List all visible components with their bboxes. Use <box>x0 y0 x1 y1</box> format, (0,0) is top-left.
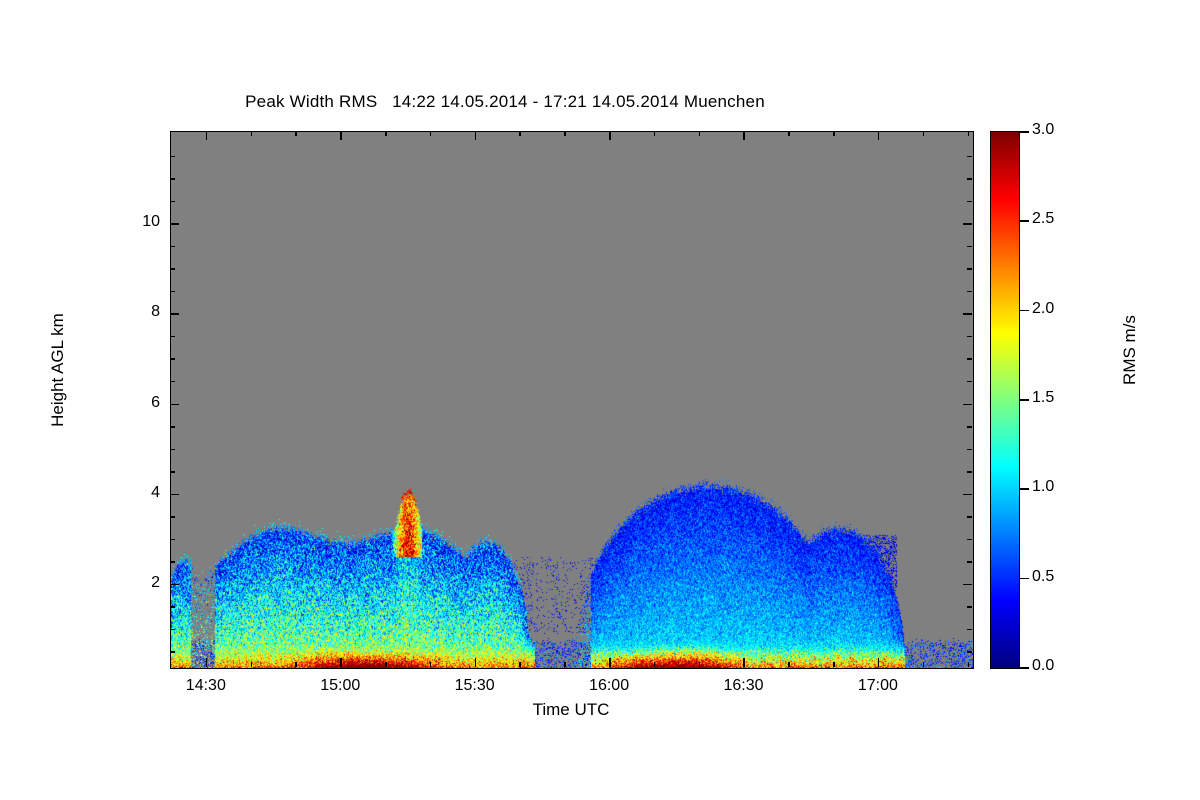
x-tick-minor <box>968 662 970 667</box>
x-tick-minor-top <box>833 131 835 136</box>
y-axis-label: Height AGL km <box>48 260 68 480</box>
y-tick-minor-right <box>967 246 972 248</box>
x-axis-label: Time UTC <box>170 700 972 720</box>
x-tick-minor <box>385 662 387 667</box>
y-tick-minor <box>170 246 175 248</box>
y-tick-major <box>170 223 179 225</box>
y-tick-major-right <box>963 494 972 496</box>
colorbar[interactable] <box>990 131 1020 669</box>
y-tick-label: 2 <box>100 574 160 592</box>
colorbar-tick-major <box>1020 667 1029 669</box>
y-tick-minor-right <box>967 606 972 608</box>
x-tick-major <box>206 658 208 667</box>
y-tick-minor <box>170 291 175 293</box>
colorbar-tick-major <box>1020 488 1029 490</box>
y-tick-minor <box>170 178 175 180</box>
y-tick-label: 4 <box>100 484 160 502</box>
x-tick-minor-top <box>654 131 656 136</box>
y-tick-minor <box>170 629 175 631</box>
y-tick-label: 6 <box>100 394 160 412</box>
x-tick-major-top <box>206 131 208 140</box>
x-tick-minor <box>564 662 566 667</box>
y-tick-major <box>170 584 179 586</box>
x-tick-major <box>743 658 745 667</box>
y-tick-minor <box>170 381 175 383</box>
colorbar-tick-label: 0.5 <box>1032 568 1054 586</box>
y-tick-minor-right <box>967 178 972 180</box>
y-tick-major <box>170 313 179 315</box>
y-tick-major <box>170 494 179 496</box>
x-tick-major <box>878 658 880 667</box>
y-tick-minor-right <box>967 381 972 383</box>
x-tick-minor <box>251 662 253 667</box>
x-tick-minor <box>923 662 925 667</box>
y-tick-label: 10 <box>100 213 160 231</box>
y-tick-minor-right <box>967 156 972 158</box>
x-tick-minor <box>699 662 701 667</box>
x-tick-minor-top <box>968 131 970 136</box>
colorbar-tick-label: 1.5 <box>1032 389 1054 407</box>
x-tick-major-top <box>609 131 611 140</box>
colorbar-tick-label: 2.0 <box>1032 300 1054 318</box>
y-tick-minor-right <box>967 358 972 360</box>
page-title: Peak Width RMS 14:22 14.05.2014 - 17:21 … <box>0 92 1010 112</box>
x-tick-minor <box>295 662 297 667</box>
x-tick-minor <box>788 662 790 667</box>
y-tick-minor <box>170 539 175 541</box>
x-tick-label: 16:30 <box>698 677 788 695</box>
y-tick-minor <box>170 201 175 203</box>
x-tick-major <box>609 658 611 667</box>
y-tick-major <box>170 404 179 406</box>
y-tick-major-right <box>963 223 972 225</box>
y-tick-minor <box>170 471 175 473</box>
x-tick-minor-top <box>788 131 790 136</box>
x-tick-major-top <box>340 131 342 140</box>
y-tick-major-right <box>963 584 972 586</box>
x-tick-minor-top <box>923 131 925 136</box>
y-tick-minor-right <box>967 426 972 428</box>
y-tick-minor <box>170 268 175 270</box>
y-tick-minor-right <box>967 471 972 473</box>
y-tick-minor <box>170 449 175 451</box>
x-tick-minor-top <box>251 131 253 136</box>
y-tick-minor <box>170 358 175 360</box>
x-tick-minor <box>654 662 656 667</box>
x-tick-minor <box>833 662 835 667</box>
y-tick-minor <box>170 516 175 518</box>
x-tick-major <box>475 658 477 667</box>
pcolor-mesh <box>171 132 973 668</box>
colorbar-tick-major <box>1020 578 1029 580</box>
x-tick-minor <box>430 662 432 667</box>
colorbar-tick-label: 2.5 <box>1032 210 1054 228</box>
y-tick-minor-right <box>967 539 972 541</box>
y-tick-minor-right <box>967 201 972 203</box>
y-tick-minor-right <box>967 561 972 563</box>
y-tick-minor <box>170 651 175 653</box>
x-tick-label: 14:30 <box>161 677 251 695</box>
colorbar-tick-major <box>1020 220 1029 222</box>
y-tick-minor-right <box>967 629 972 631</box>
heatmap-plot-area[interactable] <box>170 131 974 669</box>
y-tick-minor <box>170 156 175 158</box>
y-tick-minor-right <box>967 336 972 338</box>
colorbar-label: RMS m/s <box>1120 240 1140 460</box>
x-tick-label: 15:30 <box>430 677 520 695</box>
x-tick-major <box>340 658 342 667</box>
x-tick-major-top <box>743 131 745 140</box>
y-tick-major-right <box>963 404 972 406</box>
y-tick-minor-right <box>967 291 972 293</box>
y-tick-minor-right <box>967 268 972 270</box>
x-tick-minor-top <box>295 131 297 136</box>
x-tick-label: 16:00 <box>564 677 654 695</box>
x-tick-major-top <box>475 131 477 140</box>
colorbar-tick-major <box>1020 310 1029 312</box>
x-tick-label: 17:00 <box>833 677 923 695</box>
y-tick-minor-right <box>967 651 972 653</box>
y-tick-minor <box>170 606 175 608</box>
y-tick-minor <box>170 561 175 563</box>
x-tick-minor <box>519 662 521 667</box>
x-tick-minor-top <box>385 131 387 136</box>
colorbar-tick-major <box>1020 399 1029 401</box>
y-tick-minor-right <box>967 449 972 451</box>
y-tick-minor <box>170 336 175 338</box>
colorbar-tick-major <box>1020 131 1029 133</box>
figure-canvas: Peak Width RMS 14:22 14.05.2014 - 17:21 … <box>0 0 1200 800</box>
colorbar-gradient <box>991 132 1019 668</box>
x-tick-minor-top <box>564 131 566 136</box>
colorbar-tick-label: 1.0 <box>1032 478 1054 496</box>
x-tick-label: 15:00 <box>295 677 385 695</box>
y-tick-label: 8 <box>100 303 160 321</box>
y-tick-major-right <box>963 313 972 315</box>
colorbar-tick-label: 0.0 <box>1032 657 1054 675</box>
x-tick-major-top <box>878 131 880 140</box>
x-tick-minor-top <box>430 131 432 136</box>
x-tick-minor-top <box>699 131 701 136</box>
y-tick-minor-right <box>967 516 972 518</box>
x-tick-minor-top <box>519 131 521 136</box>
y-tick-minor <box>170 426 175 428</box>
colorbar-tick-label: 3.0 <box>1032 121 1054 139</box>
